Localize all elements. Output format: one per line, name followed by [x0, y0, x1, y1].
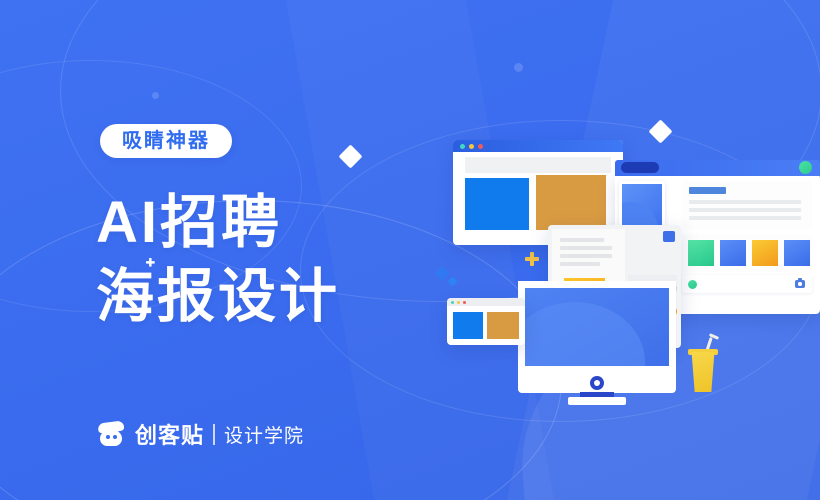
panel-status-circle-icon [799, 161, 812, 174]
traffic-light-red-icon [478, 144, 483, 149]
page-title: AI招聘 海报设计 [96, 186, 340, 334]
content-block-orange [536, 175, 606, 230]
headline-badge-label: 吸睛神器 [122, 131, 210, 151]
panel-tab-pill [621, 162, 659, 173]
traffic-light-green-icon [451, 301, 454, 304]
decor-dot [152, 92, 159, 99]
traffic-light-yellow-icon [469, 144, 474, 149]
brand-logo-text: 创客贴 设计学院 [135, 418, 304, 450]
monitor-power-led-icon [590, 376, 604, 390]
panel-text-line [689, 208, 801, 212]
thumbnail-item[interactable] [720, 240, 746, 266]
drink-cup-icon [688, 340, 718, 392]
traffic-light-red-icon [463, 301, 466, 304]
panel-text-card [682, 181, 812, 229]
poster-canvas: 吸睛神器 AI招聘 海报设计 创客贴 设计学院 [0, 0, 820, 500]
browser-titlebar [453, 140, 623, 152]
thumbnail-item[interactable] [752, 240, 778, 266]
editor-text-line [560, 254, 612, 258]
traffic-light-green-icon [460, 144, 465, 149]
editor-text-line [560, 238, 604, 242]
small-window-titlebar [447, 298, 525, 306]
editor-text-line [560, 262, 600, 266]
content-strip [465, 157, 611, 173]
monitor-base [568, 397, 626, 405]
decor-dot [514, 63, 523, 72]
panel-footer-bar [682, 275, 812, 293]
brand-logo: 创客贴 设计学院 [96, 418, 304, 450]
camera-icon[interactable] [795, 280, 805, 288]
browser-window-small [447, 298, 525, 345]
panel-thumbnail-row[interactable] [682, 234, 812, 272]
cup-body [690, 352, 716, 392]
footer-status-dot-icon [688, 280, 697, 289]
mascot-icon [96, 421, 126, 447]
headline-line-2: 海报设计 [96, 260, 340, 334]
brand-name: 创客贴 [135, 418, 204, 450]
traffic-light-yellow-icon [457, 301, 460, 304]
content-block-blue [453, 312, 483, 339]
headline-badge: 吸睛神器 [100, 124, 232, 158]
editor-text-line [560, 246, 612, 250]
monitor-screen [518, 281, 676, 373]
vertical-divider [213, 424, 215, 445]
thumbnail-item[interactable] [688, 240, 714, 266]
content-block-blue [465, 178, 529, 230]
desktop-monitor [518, 281, 676, 401]
thumbnail-item[interactable] [784, 240, 810, 266]
brand-subtitle: 设计学院 [224, 421, 304, 448]
headline-line-1: AI招聘 [96, 186, 340, 260]
panel-text-heading [689, 187, 726, 194]
content-block-orange [487, 312, 519, 339]
illustration [410, 118, 820, 458]
panel-text-line [689, 200, 801, 204]
panel-text-line [689, 216, 801, 220]
grid-icon[interactable] [663, 231, 675, 242]
